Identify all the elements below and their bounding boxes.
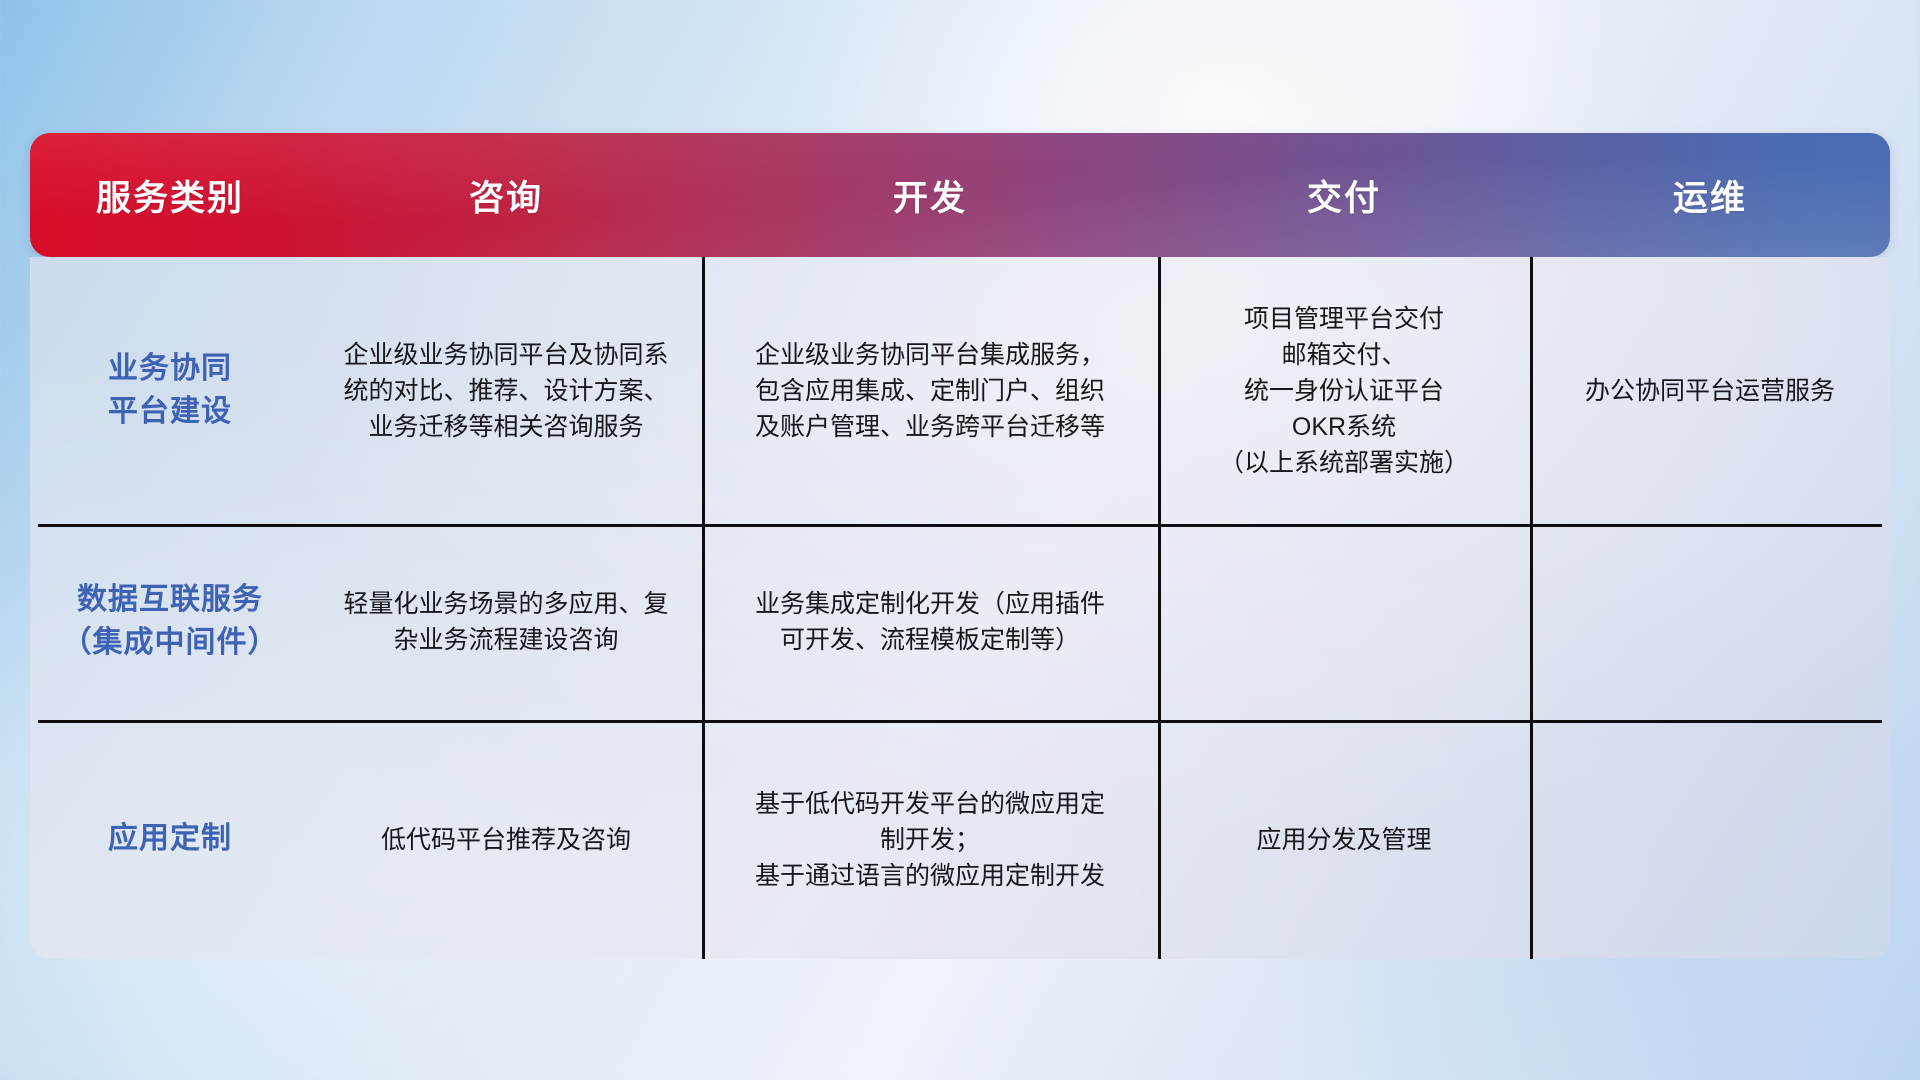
row-category-label: 业务协同 平台建设 [30, 257, 310, 524]
cell-operations: 办公协同平台运营服务 [1530, 257, 1890, 524]
row-category-label: 数据互联服务 （集成中间件） [30, 524, 310, 720]
column-divider [702, 257, 705, 959]
column-header-consulting: 咨询 [310, 133, 702, 257]
row-category-label: 应用定制 [30, 720, 310, 959]
cell-delivery: 项目管理平台交付 邮箱交付、 统一身份认证平台 OKR系统 （以上系统部署实施） [1158, 257, 1530, 524]
column-header-operations: 运维 [1530, 133, 1890, 257]
cell-consulting: 低代码平台推荐及咨询 [310, 720, 702, 959]
table-row: 业务协同 平台建设 企业级业务协同平台及协同系 统的对比、推荐、设计方案、 业务… [30, 257, 1890, 524]
cell-consulting: 企业级业务协同平台及协同系 统的对比、推荐、设计方案、 业务迁移等相关咨询服务 [310, 257, 702, 524]
row-divider [38, 720, 1882, 723]
cell-delivery: 应用分发及管理 [1158, 720, 1530, 959]
column-divider [1530, 257, 1533, 959]
service-matrix-table: 服务类别 咨询 开发 交付 运维 业务协同 平台建设 企业级业务协同平台及协同系… [30, 133, 1890, 959]
row-divider [38, 524, 1882, 527]
column-header-service-category: 服务类别 [30, 133, 310, 257]
table-header-row: 服务类别 咨询 开发 交付 运维 [30, 133, 1890, 257]
cell-development: 业务集成定制化开发（应用插件 可开发、流程模板定制等） [702, 524, 1158, 720]
column-header-development: 开发 [702, 133, 1158, 257]
table-row: 应用定制 低代码平台推荐及咨询 基于低代码开发平台的微应用定 制开发； 基于通过… [30, 720, 1890, 959]
cell-consulting: 轻量化业务场景的多应用、复 杂业务流程建设咨询 [310, 524, 702, 720]
cell-development: 企业级业务协同平台集成服务， 包含应用集成、定制门户、组织 及账户管理、业务跨平… [702, 257, 1158, 524]
column-header-delivery: 交付 [1158, 133, 1530, 257]
table-row: 数据互联服务 （集成中间件） 轻量化业务场景的多应用、复 杂业务流程建设咨询 业… [30, 524, 1890, 720]
cell-operations [1530, 524, 1890, 720]
cell-development: 基于低代码开发平台的微应用定 制开发； 基于通过语言的微应用定制开发 [702, 720, 1158, 959]
cell-delivery [1158, 524, 1530, 720]
cell-operations [1530, 720, 1890, 959]
table-body: 业务协同 平台建设 企业级业务协同平台及协同系 统的对比、推荐、设计方案、 业务… [30, 257, 1890, 959]
column-divider [1158, 257, 1161, 959]
